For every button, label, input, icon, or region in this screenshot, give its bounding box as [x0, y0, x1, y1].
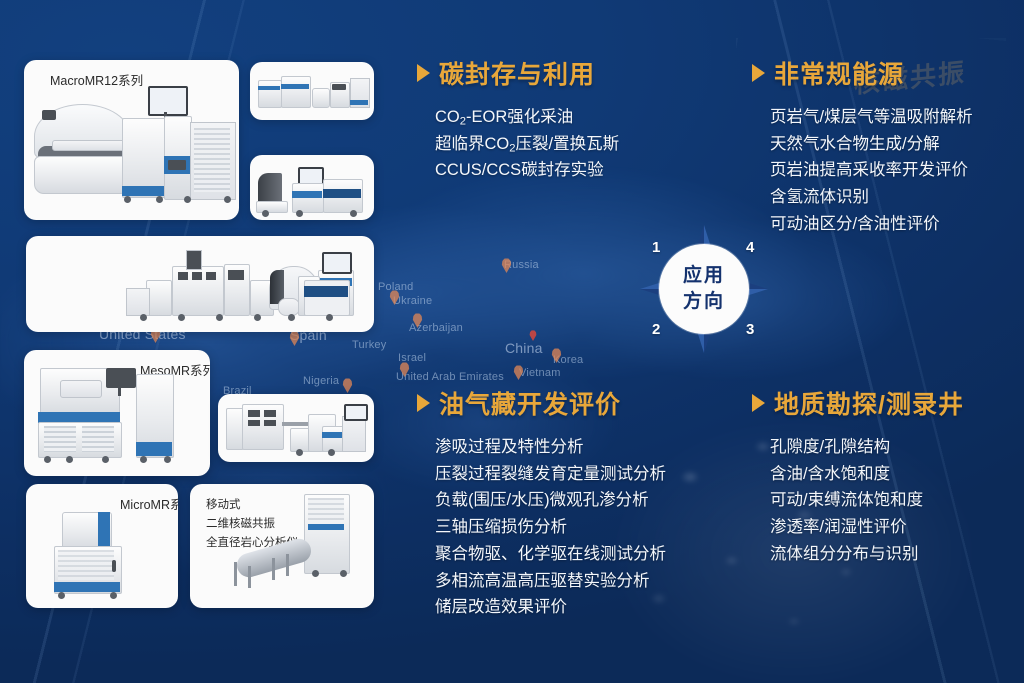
machine-unit — [258, 80, 282, 108]
section-title-text: 碳封存与利用 — [439, 55, 595, 91]
section-title-carbon-storage: 碳封存与利用 — [417, 55, 619, 91]
list-item: CO2-EOR强化采油 — [435, 104, 619, 131]
machine-monitor — [148, 86, 188, 116]
section-geological-exploration: 地质勘探/测录井 孔隙度/孔隙结构 含油/含水饱和度 可动/束缚流体饱和度 渗透… — [752, 385, 964, 584]
list-item: 聚合物驱、化学驱在线测试分析 — [435, 541, 666, 568]
machine-caster — [66, 456, 73, 463]
list-item: 含氢流体识别 — [770, 184, 973, 211]
machine-indicator-panel — [42, 110, 56, 120]
section-carbon-storage: 碳封存与利用 CO2-EOR强化采油 超临界CO2压裂/置换瓦斯 CCUS/CC… — [417, 55, 619, 200]
product-card-micromr[interactable]: MicroMR系列 — [26, 484, 178, 608]
machine-unit — [281, 76, 311, 108]
machine-caster — [58, 592, 65, 599]
product-card-lab-bench-row[interactable] — [250, 62, 374, 120]
machine-stripe — [258, 86, 280, 90]
section-title-unconventional-energy: 非常规能源 — [752, 55, 973, 91]
machine-caster — [184, 196, 191, 203]
triangle-bullet-icon — [752, 64, 765, 82]
machine-stripe-dark — [323, 189, 361, 198]
machine-unit-small — [312, 88, 330, 108]
machine-display — [264, 410, 276, 417]
machine-mid-stripe — [122, 186, 164, 196]
application-direction-compass: 应用 方向 1 2 3 4 — [640, 225, 768, 353]
machine-screen-small — [332, 84, 346, 90]
machine-caster — [288, 314, 295, 321]
poster-canvas: 核磁共振 Russia Ukraine Azerbaijan Israel Un… — [0, 0, 1024, 683]
map-pin-nigeria — [342, 378, 353, 393]
list-item: 页岩油提高采收率开发评价 — [770, 157, 973, 184]
section-title-geological-exploration: 地质勘探/测录井 — [752, 385, 964, 421]
machine-vents — [58, 550, 114, 580]
section-list-carbon-storage: CO2-EOR强化采油 超临界CO2压裂/置换瓦斯 CCUS/CCS碳封存实验 — [417, 104, 619, 184]
machine-stripe — [308, 524, 344, 530]
machine-monitor-stand — [118, 388, 121, 396]
compass-label-line-2: 方向 — [683, 289, 725, 315]
list-item: 负载(围压/水压)微观孔渗分析 — [435, 487, 666, 514]
machine-sample-door — [60, 380, 102, 398]
machine-caster — [224, 196, 231, 203]
list-item: 超临界CO2压裂/置换瓦斯 — [435, 131, 619, 158]
list-item: 渗透率/润湿性评价 — [770, 514, 964, 541]
machine-leg — [286, 554, 289, 576]
machine-unit — [126, 288, 150, 316]
machine-caster — [262, 210, 269, 217]
product-card-mesomr[interactable]: MesoMR系列 — [24, 350, 210, 476]
compass-number-1: 1 — [652, 239, 660, 256]
machine-magnet-stripe — [98, 512, 110, 548]
map-label-israel: Israel — [398, 352, 426, 364]
section-title-reservoir-development: 油气藏开发评价 — [417, 385, 666, 421]
machine-button — [248, 420, 260, 426]
product-card-macromr12[interactable]: MacroMR12系列 — [24, 60, 239, 220]
machine-leg — [272, 558, 275, 580]
machine-caster — [296, 449, 303, 456]
machine-stripe — [322, 432, 342, 438]
list-item: CCUS/CCS碳封存实验 — [435, 157, 619, 184]
machine-button — [206, 272, 216, 280]
machine-monitor — [106, 368, 136, 388]
map-label-uae: United Arab Emirates — [396, 371, 504, 383]
list-item: 储层改造效果评价 — [435, 594, 666, 621]
section-reservoir-development: 油气藏开发评价 渗吸过程及特性分析 压裂过程裂缝发育定量测试分析 负载(围压/水… — [417, 385, 666, 637]
machine-monitor — [344, 404, 368, 421]
list-item: 可动/束缚流体饱和度 — [770, 487, 964, 514]
machine-caster — [102, 456, 109, 463]
machine-button — [264, 420, 276, 426]
machine-caster — [350, 210, 357, 217]
machine-stripe-dark — [304, 286, 348, 297]
machine-stripe — [292, 191, 322, 198]
machine-unit — [322, 426, 344, 452]
machine-rack-vents — [194, 128, 230, 192]
section-list-reservoir-development: 渗吸过程及特性分析 压裂过程裂缝发育定量测试分析 负载(围压/水压)微观孔渗分析… — [417, 434, 666, 621]
product-label-macromr12: MacroMR12系列 — [50, 70, 143, 89]
list-item: 孔隙度/孔隙结构 — [770, 434, 964, 461]
machine-caster — [326, 314, 333, 321]
compass-number-2: 2 — [652, 321, 660, 338]
machine-caster — [328, 449, 335, 456]
list-item: 页岩气/煤层气等温吸附解析 — [770, 104, 973, 131]
machine-caster — [44, 456, 51, 463]
product-label-line-2: 二维核磁共振 — [206, 515, 298, 534]
machine-base-left — [34, 156, 130, 194]
machine-caster — [140, 456, 147, 463]
machine-side-stripe — [136, 442, 172, 456]
list-item: 渗吸过程及特性分析 — [435, 434, 666, 461]
section-list-unconventional-energy: 页岩气/煤层气等温吸附解析 天然气水合物生成/分解 页岩油提高采收率开发评价 含… — [752, 104, 973, 238]
machine-tower — [186, 250, 202, 270]
machine-sample-tray — [52, 140, 132, 151]
section-title-text: 油气藏开发评价 — [439, 385, 621, 421]
machine-stripe — [281, 84, 309, 89]
map-label-nigeria: Nigeria — [303, 375, 339, 387]
compass-label-line-1: 应用 — [683, 263, 725, 289]
machine-caster — [124, 196, 131, 203]
machine-control-display — [168, 160, 186, 170]
machine-rack — [342, 416, 366, 452]
machine-monitor — [322, 252, 352, 274]
machine-cabinet — [292, 183, 324, 213]
product-card-core-analyzer[interactable] — [250, 155, 374, 220]
machine-caster — [340, 570, 347, 577]
machine-display — [228, 270, 244, 280]
machine-caster — [156, 196, 163, 203]
compass-center-disc: 应用 方向 — [659, 244, 749, 334]
section-title-text: 非常规能源 — [774, 55, 904, 91]
machine-stripe — [350, 100, 368, 105]
machine-core-holder — [282, 422, 308, 426]
machine-button — [178, 272, 188, 280]
product-label-line-1: 移动式 — [206, 496, 298, 515]
map-label-china: China — [505, 340, 543, 356]
triangle-bullet-icon — [417, 394, 430, 412]
product-label-micromr: MicroMR系列 — [120, 494, 178, 513]
product-card-large-line[interactable] — [26, 236, 374, 332]
machine-magnet-base — [256, 201, 288, 213]
machine-leg — [234, 562, 237, 586]
section-unconventional-energy: 非常规能源 页岩气/煤层气等温吸附解析 天然气水合物生成/分解 页岩油提高采收率… — [752, 55, 973, 254]
machine-vents — [82, 426, 114, 452]
machine-base-stripe — [54, 582, 120, 592]
machine-handle — [112, 560, 116, 572]
machine-caster — [110, 592, 117, 599]
machine-caster — [312, 570, 319, 577]
machine-button — [192, 272, 202, 280]
machine-caster — [254, 314, 261, 321]
product-card-mobile-2d-nmr[interactable]: 移动式 二维核磁共振 全直径岩心分析仪 — [190, 484, 374, 608]
section-title-text: 地质勘探/测录井 — [774, 385, 964, 421]
triangle-bullet-icon — [417, 64, 430, 82]
machine-vents — [308, 498, 344, 520]
machine-leg — [248, 566, 251, 588]
machine-caster — [216, 314, 223, 321]
product-card-displacement-system[interactable] — [218, 394, 374, 462]
triangle-bullet-icon — [752, 394, 765, 412]
machine-caster — [164, 456, 171, 463]
list-item: 三轴压缩损伤分析 — [435, 514, 666, 541]
machine-caster — [296, 210, 303, 217]
machine-caster — [178, 314, 185, 321]
machine-display — [248, 410, 260, 417]
list-item: 多相流高温高压驱替实验分析 — [435, 568, 666, 595]
list-item: 流体组分分布与识别 — [770, 541, 964, 568]
list-item: 天然气水合物生成/分解 — [770, 131, 973, 158]
machine-vents — [44, 426, 76, 452]
map-label-vietnam: Vietnam — [519, 367, 561, 379]
list-item: 压裂过程裂缝发育定量测试分析 — [435, 461, 666, 488]
list-item: 可动油区分/含油性评价 — [770, 211, 973, 238]
machine-caster — [140, 314, 147, 321]
map-label-turkey: Turkey — [352, 339, 386, 351]
list-item: 含油/含水饱和度 — [770, 461, 964, 488]
section-list-geological-exploration: 孔隙度/孔隙结构 含油/含水饱和度 可动/束缚流体饱和度 渗透率/润湿性评价 流… — [752, 434, 964, 568]
compass-number-3: 3 — [746, 321, 754, 338]
machine-pump — [278, 298, 300, 316]
